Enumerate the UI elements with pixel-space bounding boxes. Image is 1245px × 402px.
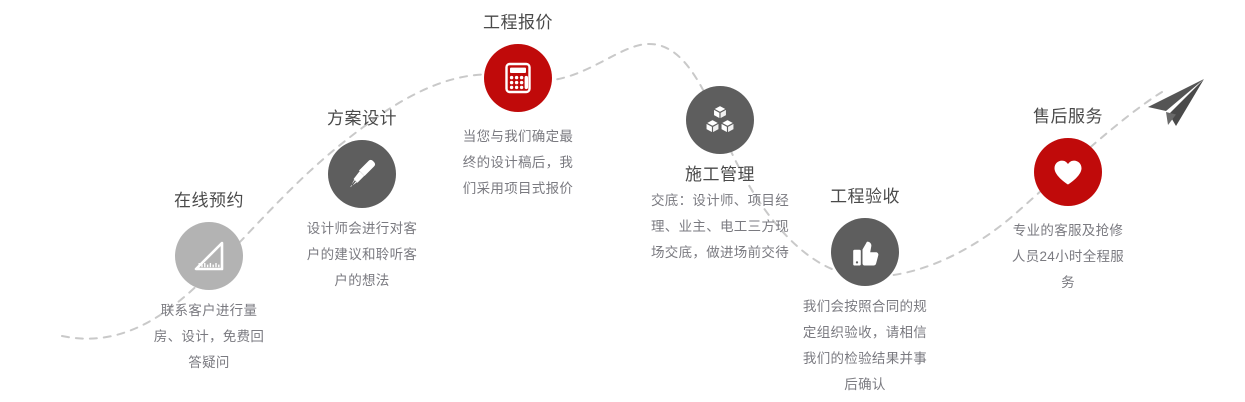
step-1-desc-line-3: 答疑问 [109, 350, 309, 376]
step-6-desc-line-1: 专业的客服及抢修 [968, 218, 1168, 244]
step-2-description: 设计师会进行对客 户的建议和聆听客 户的想法 [262, 216, 462, 294]
step-6-desc-line-3: 务 [968, 270, 1168, 296]
heart-icon [1048, 152, 1088, 192]
step-1-circle [175, 222, 243, 290]
step-4-icon-wrap [620, 86, 820, 154]
flow-step-3[interactable]: 工程报价 [418, 12, 618, 202]
step-6-icon-wrap [968, 138, 1168, 206]
thumbs-up-icon [845, 232, 885, 272]
step-5-desc-line-4: 后确认 [765, 372, 965, 398]
step-2-circle [328, 140, 396, 208]
flow-step-6[interactable]: 售后服务 专业的客服及抢修 人员24小时全程服 务 [968, 106, 1168, 296]
flow-step-5[interactable]: 工程验收 我们会按照合同的规 定组织验收，请相信 我们的检验结果并事 后确认 [765, 186, 965, 398]
step-2-desc-line-2: 户的建议和聆听客 [262, 242, 462, 268]
calculator-icon [498, 58, 538, 98]
step-2-desc-line-1: 设计师会进行对客 [262, 216, 462, 242]
step-5-title: 工程验收 [765, 186, 965, 208]
step-5-desc-line-1: 我们会按照合同的规 [765, 294, 965, 320]
step-3-title: 工程报价 [418, 12, 618, 34]
cubes-icon [700, 100, 740, 140]
step-5-circle [831, 218, 899, 286]
ruler-triangle-icon [189, 236, 229, 276]
step-5-icon-wrap [765, 218, 965, 286]
process-flow-infographic: 在线预约 [0, 0, 1245, 402]
step-3-desc-line-3: 们采用项目式报价 [418, 176, 618, 202]
paper-plane-icon [1142, 76, 1208, 134]
step-5-desc-line-2: 定组织验收，请相信 [765, 320, 965, 346]
step-3-circle [484, 44, 552, 112]
step-5-description: 我们会按照合同的规 定组织验收，请相信 我们的检验结果并事 后确认 [765, 294, 965, 398]
step-4-title: 施工管理 [620, 164, 820, 186]
step-1-desc-line-1: 联系客户进行量 [109, 298, 309, 324]
step-3-desc-line-1: 当您与我们确定最 [418, 124, 618, 150]
step-4-circle [686, 86, 754, 154]
step-6-title: 售后服务 [968, 106, 1168, 128]
step-6-desc-line-2: 人员24小时全程服 [968, 244, 1168, 270]
step-3-description: 当您与我们确定最 终的设计稿后，我 们采用项目式报价 [418, 124, 618, 202]
step-1-description: 联系客户进行量 房、设计，免费回 答疑问 [109, 298, 309, 376]
step-6-description: 专业的客服及抢修 人员24小时全程服 务 [968, 218, 1168, 296]
step-6-circle [1034, 138, 1102, 206]
step-3-desc-line-2: 终的设计稿后，我 [418, 150, 618, 176]
step-2-desc-line-3: 户的想法 [262, 268, 462, 294]
fountain-pen-icon [342, 154, 382, 194]
step-1-desc-line-2: 房、设计，免费回 [109, 324, 309, 350]
step-5-desc-line-3: 我们的检验结果并事 [765, 346, 965, 372]
step-3-icon-wrap [418, 44, 618, 112]
